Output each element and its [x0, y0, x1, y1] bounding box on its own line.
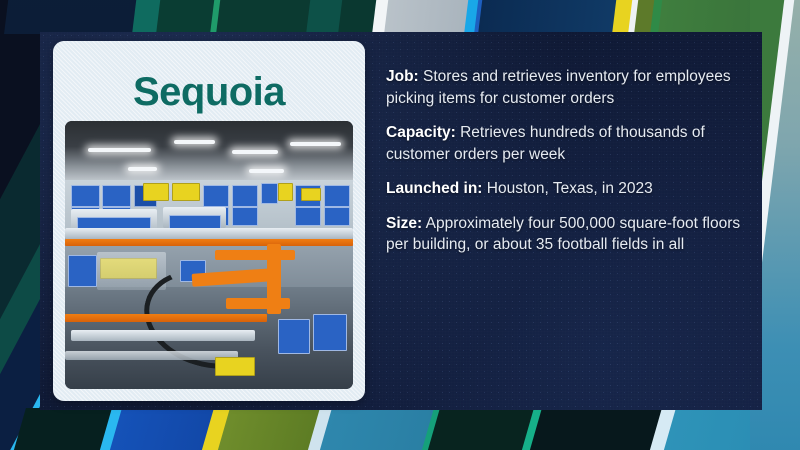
guide-rail	[65, 314, 267, 322]
ceiling-light-3	[232, 150, 278, 154]
detail-launched: Launched in: Houston, Texas, in 2023	[386, 178, 746, 200]
storage-bin	[261, 183, 278, 204]
ceiling-light-5	[128, 167, 157, 171]
photo-ceiling	[65, 121, 353, 185]
slide-canvas: Sequoia	[0, 0, 800, 450]
left-decorative-band	[0, 0, 44, 450]
ceiling-light-4	[290, 142, 342, 146]
card-title: Sequoia	[53, 70, 365, 115]
storage-bin	[324, 185, 350, 206]
storage-bin	[102, 185, 131, 206]
detail-capacity: Capacity: Retrieves hundreds of thousand…	[386, 122, 746, 165]
detail-launched-label: Launched in:	[386, 180, 482, 197]
storage-bin	[324, 207, 350, 226]
detail-job-text: Stores and retrieves inventory for emplo…	[386, 68, 731, 107]
catwalk-beam	[65, 228, 353, 239]
detail-size-label: Size:	[386, 215, 422, 232]
linear-track-lower	[65, 351, 238, 359]
storage-bin	[295, 207, 321, 226]
linear-track	[71, 330, 255, 341]
storage-bin	[215, 357, 255, 376]
storage-bin	[278, 183, 292, 202]
bottom-decorative-band	[0, 408, 800, 450]
top-decorative-band	[0, 0, 800, 34]
detail-size-text: Approximately four 500,000 square-foot f…	[386, 215, 740, 254]
storage-bin	[71, 185, 100, 206]
detail-capacity-label: Capacity:	[386, 124, 456, 141]
warehouse-robotics-photo	[65, 121, 353, 389]
storage-bin	[313, 314, 348, 352]
storage-bin	[143, 183, 169, 202]
sequoia-card: Sequoia	[53, 41, 365, 401]
storage-bin	[203, 185, 229, 206]
detail-size: Size: Approximately four 500,000 square-…	[386, 213, 746, 256]
detail-job-label: Job:	[386, 68, 419, 85]
storage-bin	[232, 207, 258, 226]
conveyor-rail	[65, 239, 353, 246]
ceiling-light-2	[174, 140, 214, 144]
storage-bin	[301, 188, 321, 201]
storage-bin	[278, 319, 310, 354]
detail-job: Job: Stores and retrieves inventory for …	[386, 66, 746, 109]
storage-bin	[172, 183, 201, 202]
storage-bin	[232, 185, 258, 206]
ceiling-light-1	[88, 148, 151, 152]
storage-bin	[68, 255, 97, 287]
ceiling-light-6	[249, 169, 284, 173]
detail-launched-text: Houston, Texas, in 2023	[482, 180, 652, 197]
details-text-column: Job: Stores and retrieves inventory for …	[386, 66, 746, 256]
robot-arm-horizontal	[215, 250, 296, 261]
